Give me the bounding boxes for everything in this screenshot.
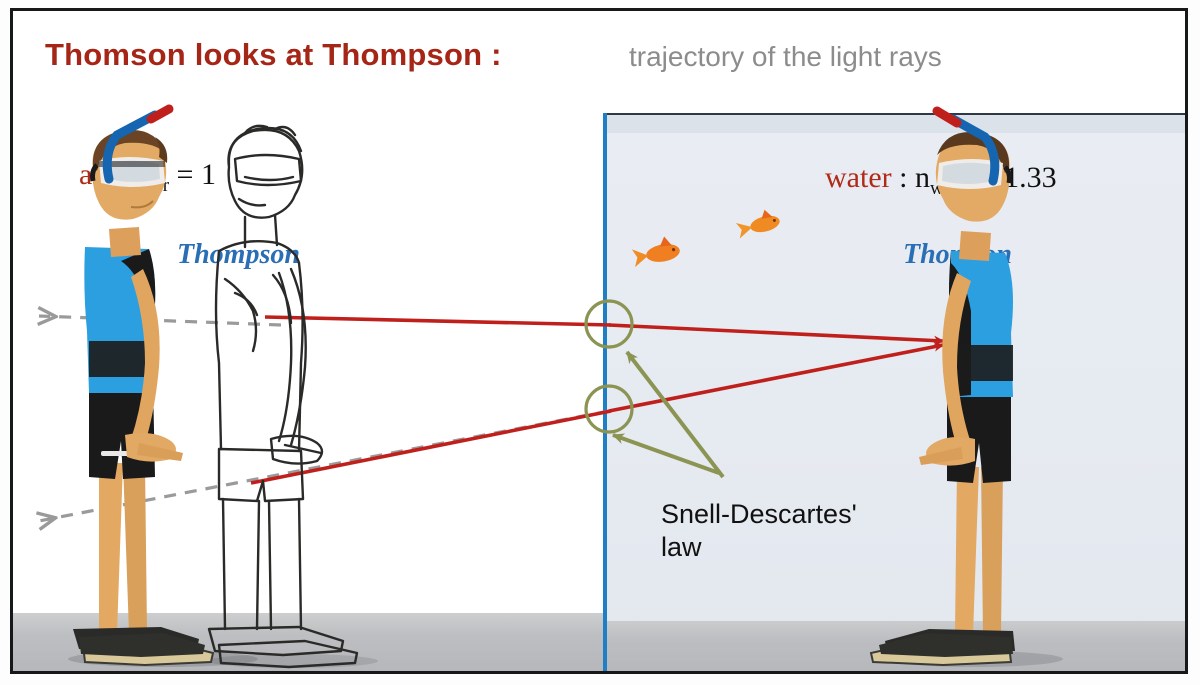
diver-thompson-real <box>73 109 213 665</box>
diver-thompson-virtual-outline <box>209 126 357 667</box>
diver-thomson-observer <box>871 111 1015 665</box>
diver-layer <box>13 11 1188 674</box>
diagram-stage: Thomson looks at Thompson : trajectory o… <box>0 0 1200 685</box>
page-frame: Thomson looks at Thompson : trajectory o… <box>10 8 1188 674</box>
